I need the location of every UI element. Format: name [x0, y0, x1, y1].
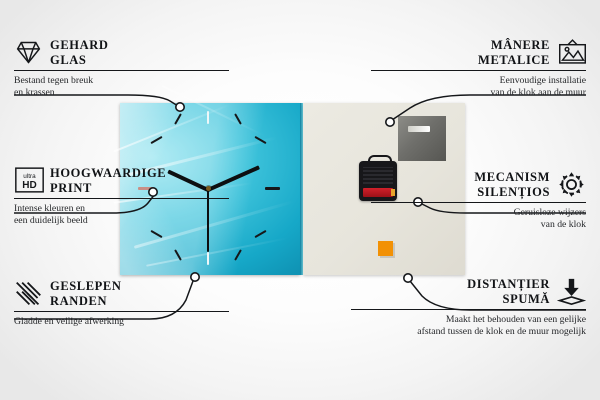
- feature-title-line1: GESLEPEN: [50, 279, 122, 294]
- gear-icon: [557, 170, 586, 199]
- feature-desc-line2: van de klok: [371, 219, 586, 231]
- diamond-icon: [14, 38, 43, 67]
- feature-title-line1: MÂNERE: [478, 38, 550, 53]
- feature-title-line2: GLAS: [50, 53, 108, 68]
- feature-desc-line1: Bestand tegen breuk: [14, 75, 229, 87]
- foam-spacer-part: [378, 241, 393, 256]
- feature-description: Geruisloze wijzers van de klok: [371, 207, 586, 231]
- clock-tick-10: [150, 136, 162, 144]
- feature-desc-line1: Maakt het behouden van een gelijke: [351, 314, 586, 326]
- clock-tick-5: [234, 249, 242, 260]
- clock-tick-12: [207, 111, 209, 124]
- feature-description: Eenvoudige installatie van de klok aan d…: [371, 75, 586, 99]
- clock-tick-8: [150, 230, 162, 238]
- svg-text:HD: HD: [22, 180, 36, 191]
- feature-title-line1: MECANISM: [474, 170, 550, 185]
- feature-mecanism-silentios[interactable]: MECANISM SILENȚIOS Geruisloze wijzers va…: [371, 170, 586, 231]
- feature-title: MECANISM SILENȚIOS: [474, 170, 550, 199]
- feature-divider: [14, 198, 229, 199]
- feature-desc-line1: Intense kleuren en: [14, 203, 229, 215]
- feature-title: HOOGWAARDIGE PRINT: [50, 166, 166, 195]
- feature-desc-line1: Eenvoudige installatie: [371, 75, 586, 87]
- clock-tick-4: [254, 230, 266, 238]
- feature-desc-line2: afstand tussen de klok en de muur mogeli…: [351, 326, 586, 338]
- feature-divider: [351, 309, 586, 310]
- diagonal-lines-icon: [14, 279, 43, 308]
- feature-header: ultra HD HOOGWAARDIGE PRINT: [14, 166, 229, 195]
- ultra-hd-icon: ultra HD: [14, 166, 43, 195]
- feature-desc-line1: Geruisloze wijzers: [371, 207, 586, 219]
- feature-title-line2: METALICE: [478, 53, 550, 68]
- feature-divider: [14, 311, 229, 312]
- feature-geslepen-randen[interactable]: GESLEPEN RANDEN Gladde en veilige afwerk…: [14, 279, 229, 328]
- hanger-bail: [368, 155, 392, 165]
- feature-description: Maakt het behouden van een gelijke afsta…: [351, 314, 586, 338]
- infographic-canvas: GEHARD GLAS Bestand tegen breuk en krass…: [0, 0, 600, 400]
- feature-title: DISTANȚIER SPUMĂ: [467, 277, 550, 306]
- feature-title-line1: DISTANȚIER: [467, 277, 550, 292]
- feature-title: GEHARD GLAS: [50, 38, 108, 67]
- feature-title-line1: GEHARD: [50, 38, 108, 53]
- feature-title: GESLEPEN RANDEN: [50, 279, 122, 308]
- feature-title-line2: PRINT: [50, 181, 166, 196]
- clock-tick-6: [207, 252, 209, 265]
- feature-manere-metalice[interactable]: MÂNERE METALICE Eenvoudige installatie v…: [371, 38, 586, 99]
- feature-header: DISTANȚIER SPUMĂ: [351, 277, 586, 306]
- feature-divider: [371, 202, 586, 203]
- picture-frame-icon: [557, 38, 586, 67]
- feature-header: MÂNERE METALICE: [371, 38, 586, 67]
- feature-desc-line2: van de klok aan de muur: [371, 87, 586, 99]
- feature-title-line2: SILENȚIOS: [474, 185, 550, 200]
- feature-description: Intense kleuren en een duidelijk beeld: [14, 203, 229, 227]
- feature-description: Bestand tegen breuk en krassen: [14, 75, 229, 99]
- feature-header: GESLEPEN RANDEN: [14, 279, 229, 308]
- feature-title: MÂNERE METALICE: [478, 38, 550, 67]
- feature-description: Gladde en veilige afwerking: [14, 316, 229, 328]
- feature-header: MECANISM SILENȚIOS: [371, 170, 586, 199]
- feature-distantier-spuma[interactable]: DISTANȚIER SPUMĂ Maakt het behouden van …: [351, 277, 586, 338]
- feature-title-line2: RANDEN: [50, 294, 122, 309]
- feature-desc-line2: en krassen: [14, 87, 229, 99]
- feature-gehard-glas[interactable]: GEHARD GLAS Bestand tegen breuk en krass…: [14, 38, 229, 99]
- feature-desc-line2: een duidelijk beeld: [14, 215, 229, 227]
- clock-tick-3: [265, 187, 280, 190]
- feature-hoogwaardige-print[interactable]: ultra HD HOOGWAARDIGE PRINT Intense kleu…: [14, 166, 229, 227]
- feature-desc-line1: Gladde en veilige afwerking: [14, 316, 229, 328]
- download-onto-surface-icon: [557, 277, 586, 306]
- metal-hanger-part: [398, 116, 446, 161]
- feature-title-line2: SPUMĂ: [467, 292, 550, 307]
- feature-title-line1: HOOGWAARDIGE: [50, 166, 166, 181]
- feature-divider: [14, 70, 229, 71]
- svg-text:ultra: ultra: [23, 173, 36, 180]
- feature-header: GEHARD GLAS: [14, 38, 229, 67]
- feature-divider: [371, 70, 586, 71]
- feather-streak: [146, 237, 288, 266]
